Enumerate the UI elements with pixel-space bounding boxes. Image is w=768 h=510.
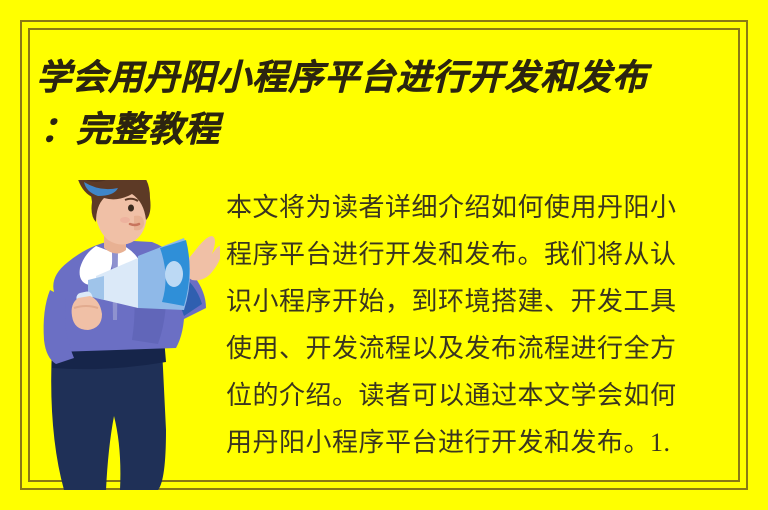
body-line-5: 位的介绍。读者可以通过本文学会如何 (226, 372, 726, 419)
body-line-3: 识小程序开始，到环境搭建、开发工具 (226, 278, 726, 325)
title-line-1: 学会用丹阳小程序平台进行开发和发布 (36, 52, 736, 104)
poster-body-text: 本文将为读者详细介绍如何使用丹阳小 程序平台进行开发和发布。我们将从认 识小程序… (226, 184, 726, 466)
body-line-6: 用丹阳小程序平台进行开发和发布。1. (226, 419, 726, 466)
body-line-2: 程序平台进行开发和发布。我们将从认 (226, 231, 726, 278)
body-line-1: 本文将为读者详细介绍如何使用丹阳小 (226, 184, 726, 231)
poster-canvas: 学会用丹阳小程序平台进行开发和发布 ：完整教程 (0, 0, 768, 510)
trousers-shape (51, 338, 166, 490)
woman-with-megaphone-illustration (34, 180, 220, 490)
poster-title: 学会用丹阳小程序平台进行开发和发布 ：完整教程 (36, 52, 736, 156)
title-line-2: ：完整教程 (36, 104, 736, 156)
body-line-4: 使用、开发流程以及发布流程进行全方 (226, 325, 726, 372)
